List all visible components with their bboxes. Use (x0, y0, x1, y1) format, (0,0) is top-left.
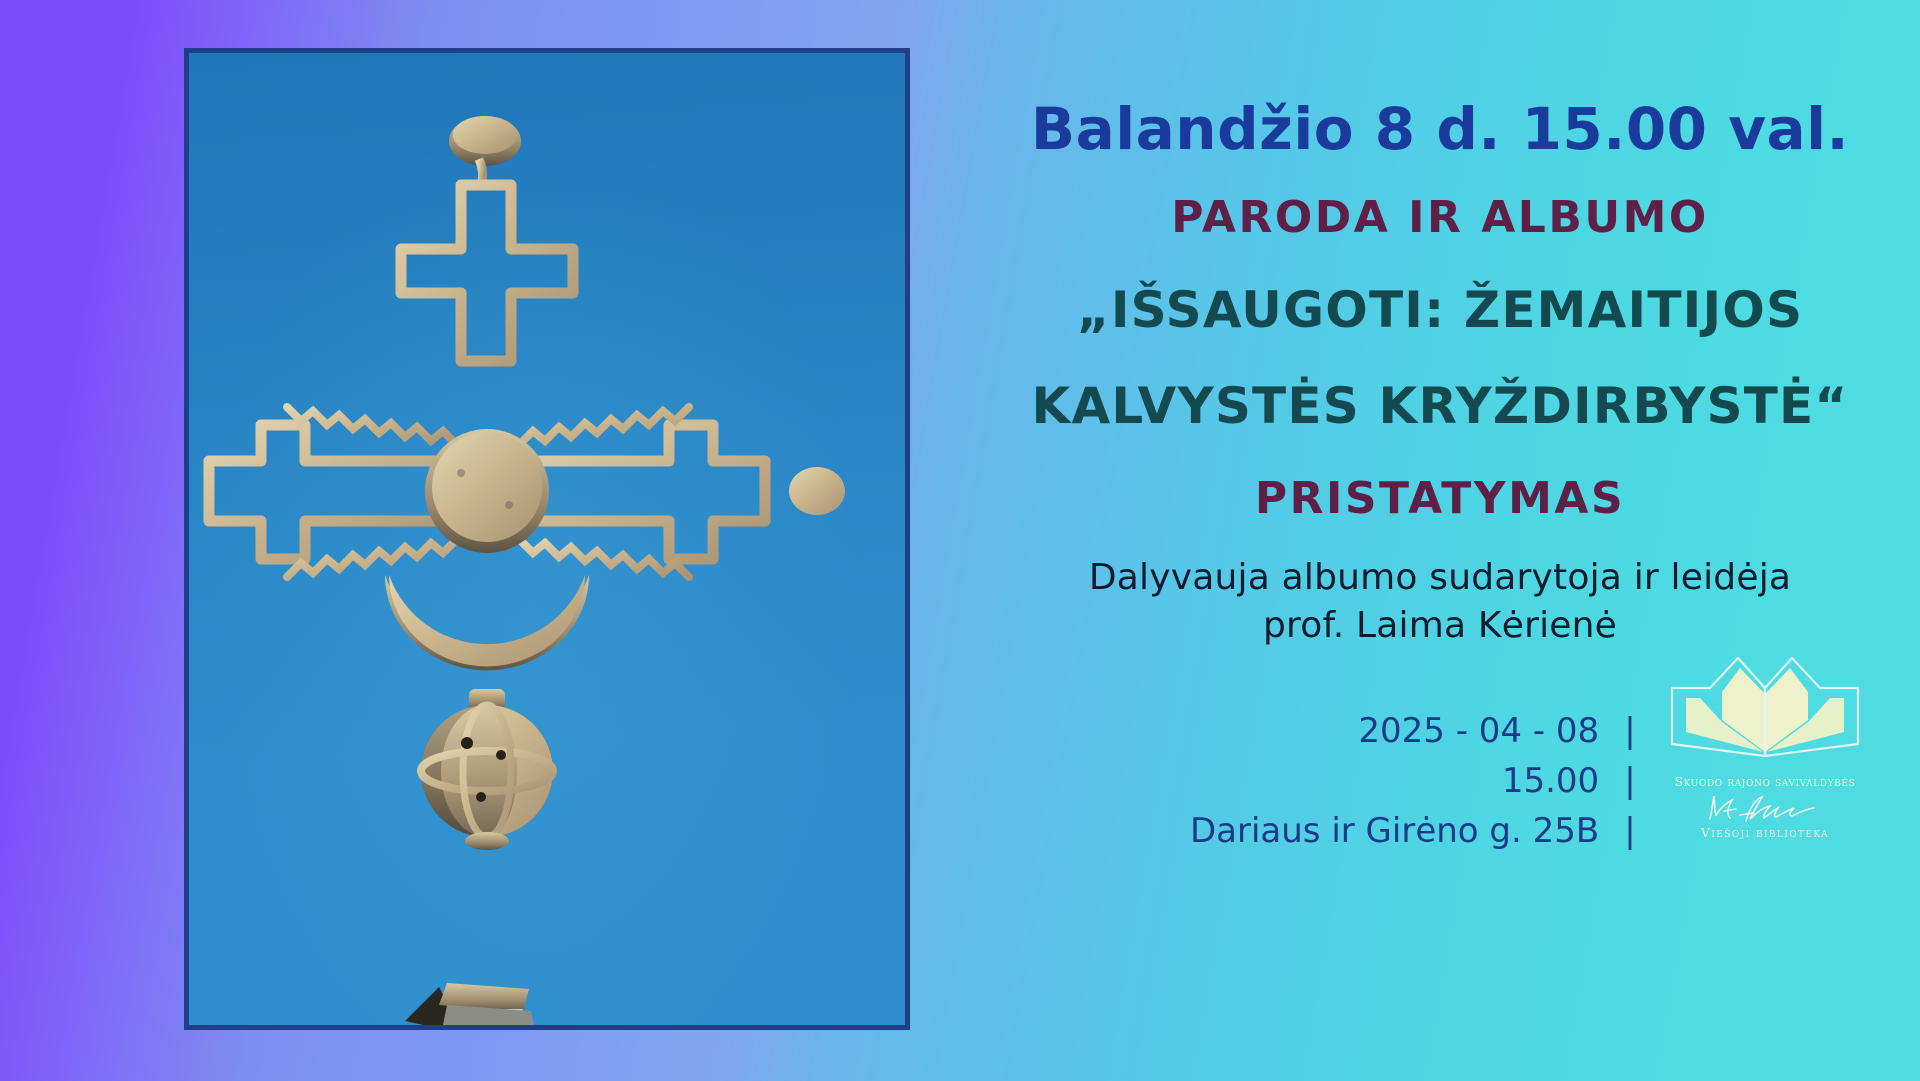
presenter-intro: Dalyvauja albumo sudarytoja ir leidėja (960, 560, 1920, 596)
logo-municipality-text: Skuodo rajono savivaldybės (1660, 774, 1870, 789)
event-date-row: 2025 - 04 - 08 | (960, 706, 1650, 756)
photo-inner (189, 53, 905, 1025)
event-address: Dariaus ir Girėno g. 25B (1190, 811, 1599, 851)
logo-library-text: Viešoji biblioteka (1660, 825, 1870, 840)
event-time-row: 15.00 | (960, 756, 1650, 806)
separator-icon: | (1610, 806, 1650, 856)
event-address-row: Dariaus ir Girėno g. 25B | (960, 806, 1650, 856)
poster-canvas: Balandžio 8 d. 15.00 val. PARODA IR ALBU… (0, 0, 1920, 1081)
open-book-icon (1660, 648, 1870, 766)
separator-icon: | (1610, 756, 1650, 806)
event-date: 2025 - 04 - 08 (1358, 711, 1599, 751)
wrought-iron-cross-photo (184, 48, 910, 1030)
event-details: 2025 - 04 - 08 | 15.00 | Dariaus ir Girė… (960, 706, 1650, 856)
event-headline: Balandžio 8 d. 15.00 val. (960, 100, 1920, 158)
presentation-subhead: PRISTATYMAS (960, 477, 1920, 521)
album-title-line-1: „IŠSAUGOTI: ŽEMAITIJOS (960, 285, 1920, 335)
poster-text-column: Balandžio 8 d. 15.00 val. PARODA IR ALBU… (960, 0, 1920, 1081)
exhibition-subhead: PARODA IR ALBUMO (960, 196, 1920, 240)
logo-signature-icon (1660, 791, 1870, 825)
cross-illustration (189, 53, 905, 1025)
presenter-name: prof. Laima Kėrienė (960, 608, 1920, 644)
event-time: 15.00 (1502, 761, 1599, 801)
album-title-line-2: KALVYSTĖS KRYŽDIRBYSTĖ“ (960, 381, 1920, 431)
library-logo: Skuodo rajono savivaldybės Viešoji bibli… (1660, 648, 1870, 863)
separator-icon: | (1610, 706, 1650, 756)
